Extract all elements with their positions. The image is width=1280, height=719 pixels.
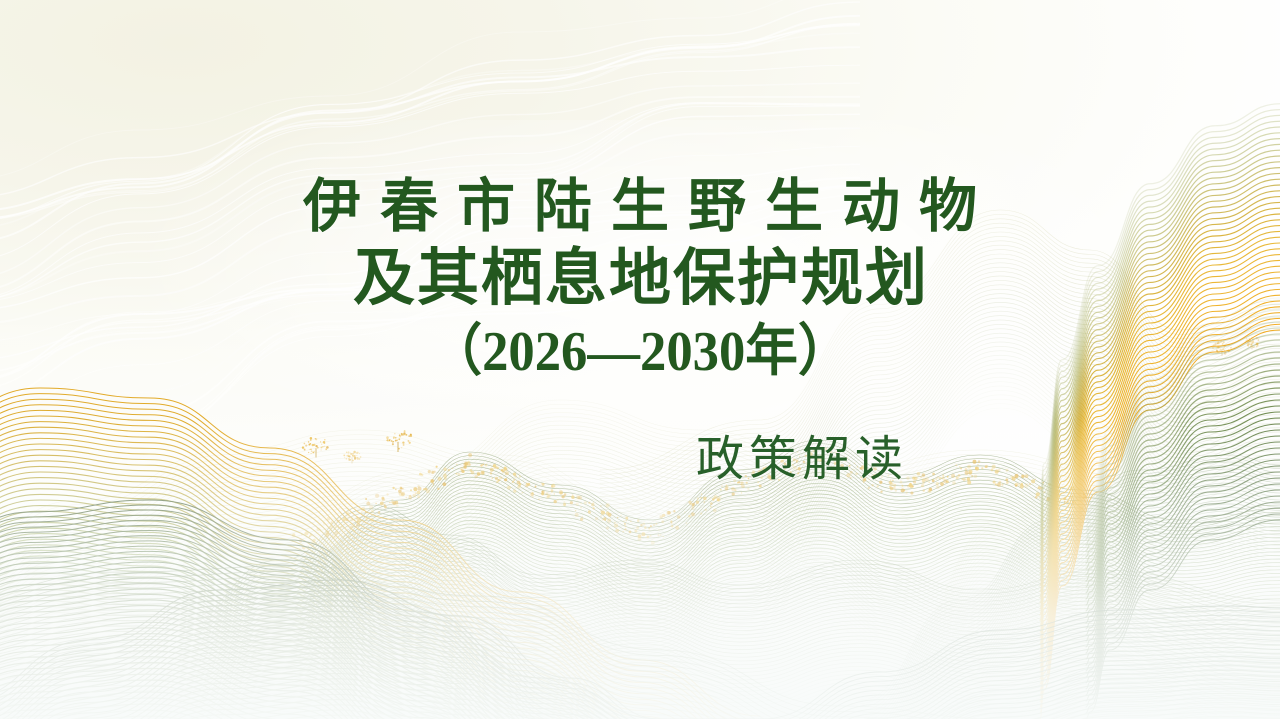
page-title: 伊春市陆生野生动物 及其栖息地保护规划 （2026—2030年） [0, 178, 1280, 380]
title-line-1: 伊春市陆生野生动物 [0, 178, 1280, 236]
title-line-3-period: （2026—2030年） [38, 324, 1241, 380]
valley-fog-band [0, 419, 1280, 719]
subtitle-policy-interpretation: 政策解读 [696, 436, 908, 484]
title-line-2: 及其栖息地保护规划 [0, 248, 1280, 310]
title-slide: 伊春市陆生野生动物 及其栖息地保护规划 （2026—2030年） 政策解读 [0, 0, 1280, 719]
